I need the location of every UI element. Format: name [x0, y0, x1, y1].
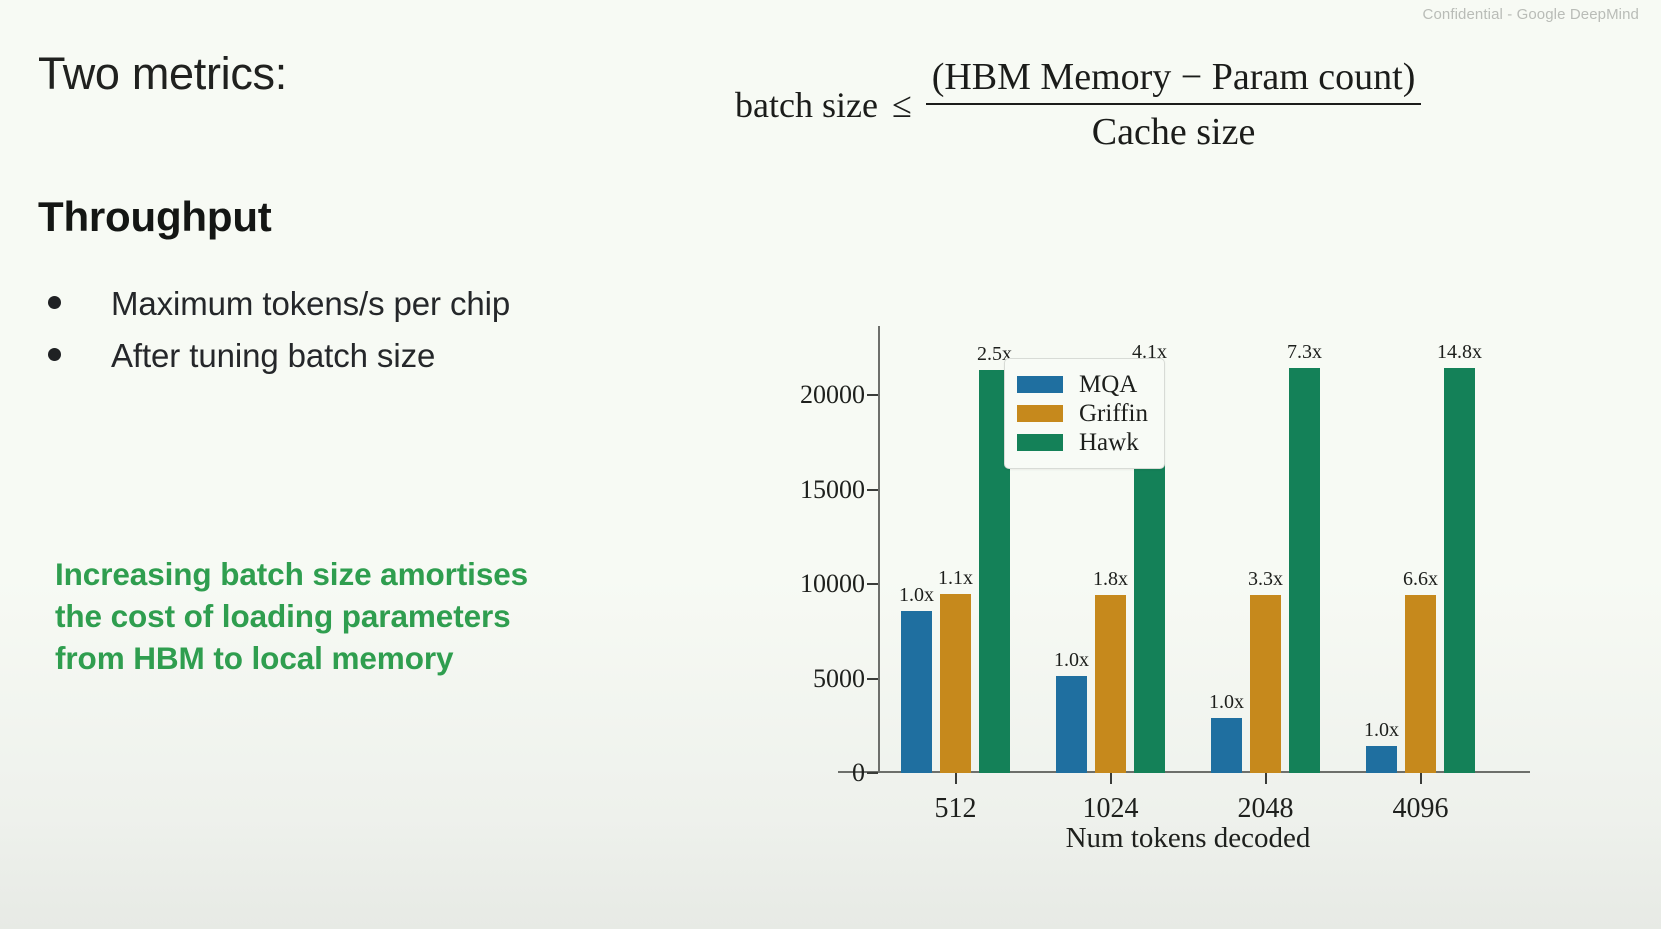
y-tick-label: 0 [852, 758, 865, 788]
bullet-text: Maximum tokens/s per chip [111, 285, 510, 323]
formula-batch-size: batch size ≤ (HBM Memory − Param count) … [735, 55, 1421, 154]
bullet-list: Maximum tokens/s per chip After tuning b… [48, 285, 510, 389]
bar-group: 1.0x3.3x7.3x [1211, 368, 1320, 773]
y-tick-mark [867, 489, 878, 491]
legend-item: Hawk [1017, 430, 1148, 455]
x-tick-mark [1265, 773, 1267, 784]
bar-value-label: 1.1x [938, 567, 973, 590]
bar-group: 1.0x1.1x2.5x [901, 370, 1010, 773]
formula-relation: ≤ [892, 84, 912, 126]
list-item: After tuning batch size [48, 337, 510, 375]
list-item: Maximum tokens/s per chip [48, 285, 510, 323]
bullet-dot-icon [48, 348, 61, 361]
fraction-bar [926, 103, 1422, 105]
y-tick-label: 20000 [800, 380, 865, 410]
y-tick-mark [867, 678, 878, 680]
bar-mqa: 1.0x [1366, 746, 1397, 773]
formula-denominator: Cache size [1086, 105, 1262, 154]
y-tick-label: 5000 [813, 664, 865, 694]
slide-root: Confidential - Google DeepMind Two metri… [0, 0, 1661, 929]
throughput-bar-chart: 05000100001500020000 1.0x1.1x2.5x1.0x1.8… [760, 330, 1550, 870]
bar-griffin: 6.6x [1405, 595, 1436, 774]
x-axis-title: Num tokens decoded [878, 822, 1498, 855]
formula-fraction: (HBM Memory − Param count) Cache size [926, 55, 1422, 154]
x-tick-label: 2048 [1238, 793, 1294, 825]
x-tick-mark [1420, 773, 1422, 784]
legend-swatch-hawk [1017, 434, 1063, 451]
legend-swatch-griffin [1017, 405, 1063, 422]
bar-mqa: 1.0x [901, 611, 932, 773]
bar-griffin: 1.8x [1095, 595, 1126, 774]
y-tick-label: 10000 [800, 569, 865, 599]
bar-value-label: 6.6x [1403, 568, 1438, 591]
formula-numerator: (HBM Memory − Param count) [926, 55, 1422, 103]
x-tick-mark [955, 773, 957, 784]
callout-line: Increasing batch size amortises [55, 554, 635, 596]
bullet-text: After tuning batch size [111, 337, 435, 375]
callout-line: from HBM to local memory [55, 638, 635, 680]
bar-group: 1.0x6.6x14.8x [1366, 368, 1475, 773]
bar-value-label: 14.8x [1437, 341, 1482, 364]
y-tick-mark [867, 394, 878, 396]
formula-lhs: batch size [735, 84, 878, 126]
page-title: Two metrics: [38, 48, 287, 100]
chart-legend: MQAGriffinHawk [1004, 358, 1165, 469]
section-heading-throughput: Throughput [38, 193, 272, 241]
bar-value-label: 1.0x [1364, 719, 1399, 742]
y-axis-line [878, 326, 880, 773]
x-tick-mark [1110, 773, 1112, 784]
callout-line: the cost of loading parameters [55, 596, 635, 638]
bar-griffin: 1.1x [940, 594, 971, 773]
bar-griffin: 3.3x [1250, 595, 1281, 774]
bar-hawk: 7.3x [1289, 368, 1320, 773]
bar-value-label: 1.0x [899, 584, 934, 607]
bar-mqa: 1.0x [1211, 718, 1242, 773]
callout-text: Increasing batch size amortises the cost… [55, 554, 635, 680]
legend-label: Hawk [1079, 430, 1139, 455]
x-tick-label: 1024 [1083, 793, 1139, 825]
bar-mqa: 1.0x [1056, 676, 1087, 773]
bar-hawk: 14.8x [1444, 368, 1475, 773]
legend-item: Griffin [1017, 401, 1148, 426]
bar-value-label: 1.0x [1209, 691, 1244, 714]
bar-value-label: 3.3x [1248, 568, 1283, 591]
x-tick-label: 4096 [1393, 793, 1449, 825]
legend-label: Griffin [1079, 401, 1148, 426]
x-tick-label: 512 [935, 793, 977, 825]
legend-item: MQA [1017, 372, 1148, 397]
y-tick-label: 15000 [800, 475, 865, 505]
bar-value-label: 1.0x [1054, 649, 1089, 672]
bar-value-label: 7.3x [1287, 341, 1322, 364]
legend-swatch-mqa [1017, 376, 1063, 393]
bar-value-label: 1.8x [1093, 568, 1128, 591]
confidential-label: Confidential - Google DeepMind [1423, 6, 1639, 23]
bullet-dot-icon [48, 296, 61, 309]
plot-area: 05000100001500020000 1.0x1.1x2.5x1.0x1.8… [878, 348, 1498, 773]
y-tick-mark [867, 772, 878, 774]
y-tick-mark [867, 583, 878, 585]
legend-label: MQA [1079, 372, 1137, 397]
